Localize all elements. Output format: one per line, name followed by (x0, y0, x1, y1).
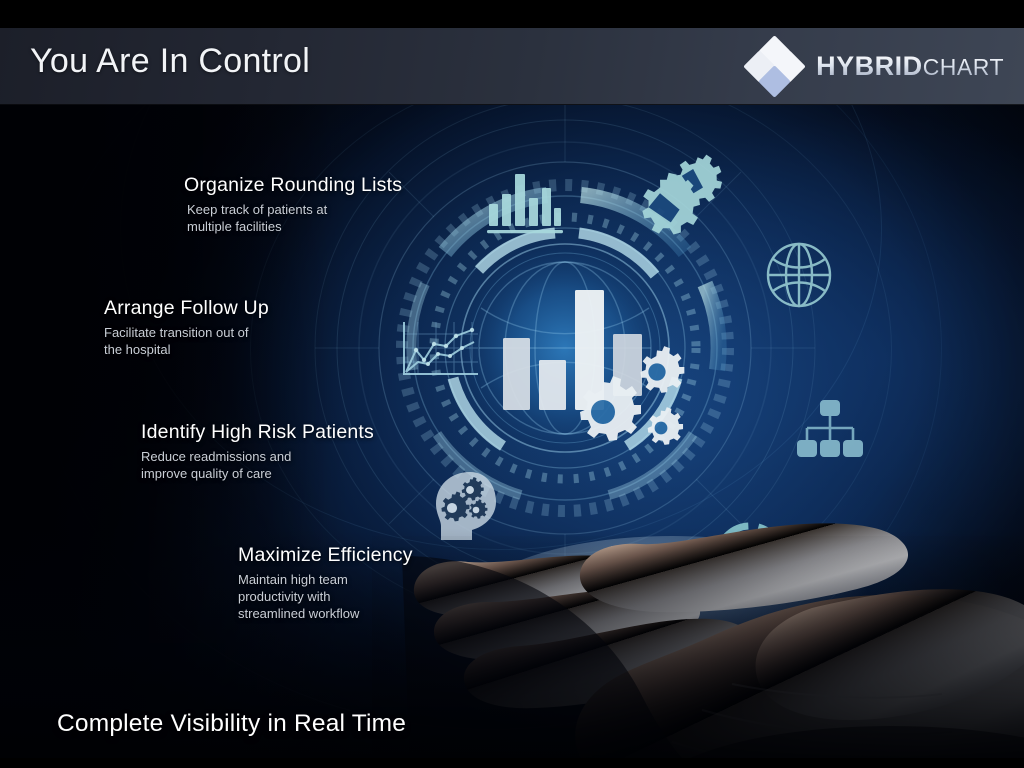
feature-block-maximize-efficiency: Maximize Efficiency Maintain high team p… (238, 544, 413, 623)
brand-name: HYBRIDCHART (816, 51, 1004, 82)
slide: Organize Rounding Lists Keep track of pa… (0, 0, 1024, 768)
feature-description: Facilitate transition out of the hospita… (104, 325, 269, 359)
feature-title: Organize Rounding Lists (184, 174, 402, 197)
brand-logo[interactable]: HYBRIDCHART (746, 38, 1004, 94)
diamond-cluster-icon (746, 38, 804, 94)
letterbox-top (0, 0, 1024, 28)
feature-description: Keep track of patients at multiple facil… (184, 202, 402, 236)
brand-name-bold: HYBRID (816, 51, 923, 81)
feature-title: Arrange Follow Up (104, 297, 269, 320)
feature-description: Maintain high team productivity with str… (238, 572, 413, 623)
slide-background: Organize Rounding Lists Keep track of pa… (0, 28, 1024, 758)
feature-block-organize-rounding-lists: Organize Rounding Lists Keep track of pa… (184, 174, 402, 236)
brand-name-light: CHART (923, 54, 1004, 80)
tagline: Complete Visibility in Real Time (57, 710, 406, 738)
feature-block-arrange-follow-up: Arrange Follow Up Facilitate transition … (104, 297, 269, 359)
feature-description: Reduce readmissions and improve quality … (141, 449, 374, 483)
slide-header: You Are In Control HYBRIDCHART (0, 28, 1024, 105)
page-title: You Are In Control (30, 42, 310, 81)
feature-block-identify-high-risk-patients: Identify High Risk Patients Reduce readm… (141, 421, 374, 483)
feature-title: Identify High Risk Patients (141, 421, 374, 444)
letterbox-bottom (0, 758, 1024, 768)
feature-title: Maximize Efficiency (238, 544, 413, 567)
background-gradient (0, 28, 1024, 758)
